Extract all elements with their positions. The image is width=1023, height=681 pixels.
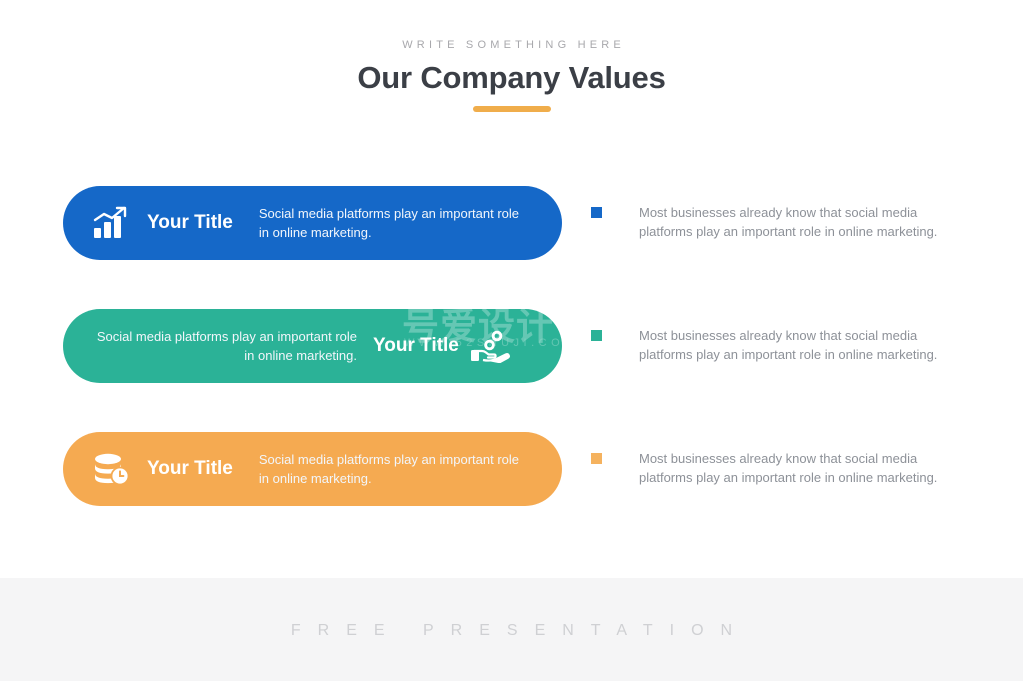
value-row: Your Title Social media platforms play a… bbox=[0, 186, 1023, 260]
values-list: Your Title Social media platforms play a… bbox=[0, 186, 1023, 555]
value-description-3: Most businesses already know that social… bbox=[591, 449, 973, 487]
description-text: Most businesses already know that social… bbox=[639, 449, 973, 487]
bullet-square-icon bbox=[591, 330, 602, 341]
footer-text: FREE PRESENTATION bbox=[0, 622, 1023, 640]
bullet-square-icon bbox=[591, 453, 602, 464]
card-body: Social media platforms play an important… bbox=[89, 327, 357, 365]
hand-holding-coins-icon bbox=[459, 329, 521, 363]
value-card-1[interactable]: Your Title Social media platforms play a… bbox=[63, 186, 562, 260]
value-card-3[interactable]: Your Title Social media platforms play a… bbox=[63, 432, 562, 506]
bullet-square-icon bbox=[591, 207, 602, 218]
coin-stack-clock-icon bbox=[81, 452, 143, 486]
description-text: Most businesses already know that social… bbox=[639, 203, 973, 241]
card-title: Your Title bbox=[147, 212, 233, 234]
card-body: Social media platforms play an important… bbox=[259, 450, 527, 488]
value-description-1: Most businesses already know that social… bbox=[591, 203, 973, 241]
card-body: Social media platforms play an important… bbox=[259, 204, 527, 242]
value-card-2[interactable]: Your Title Social media platforms play a… bbox=[63, 309, 562, 383]
footer-band: FREE PRESENTATION bbox=[0, 578, 1023, 681]
bar-chart-growth-icon bbox=[81, 206, 143, 240]
card-title: Your Title bbox=[147, 458, 233, 480]
value-description-2: Most businesses already know that social… bbox=[591, 326, 973, 364]
title-underline-accent bbox=[473, 106, 551, 112]
page-title: Our Company Values bbox=[0, 59, 1023, 97]
page-kicker: WRITE SOMETHING HERE bbox=[0, 38, 1023, 52]
value-row: Your Title Social media platforms play a… bbox=[0, 432, 1023, 506]
description-text: Most businesses already know that social… bbox=[639, 326, 973, 364]
value-row: Your Title Social media platforms play a… bbox=[0, 309, 1023, 383]
card-title: Your Title bbox=[373, 335, 459, 357]
page-header: WRITE SOMETHING HERE Our Company Values bbox=[0, 38, 1023, 112]
